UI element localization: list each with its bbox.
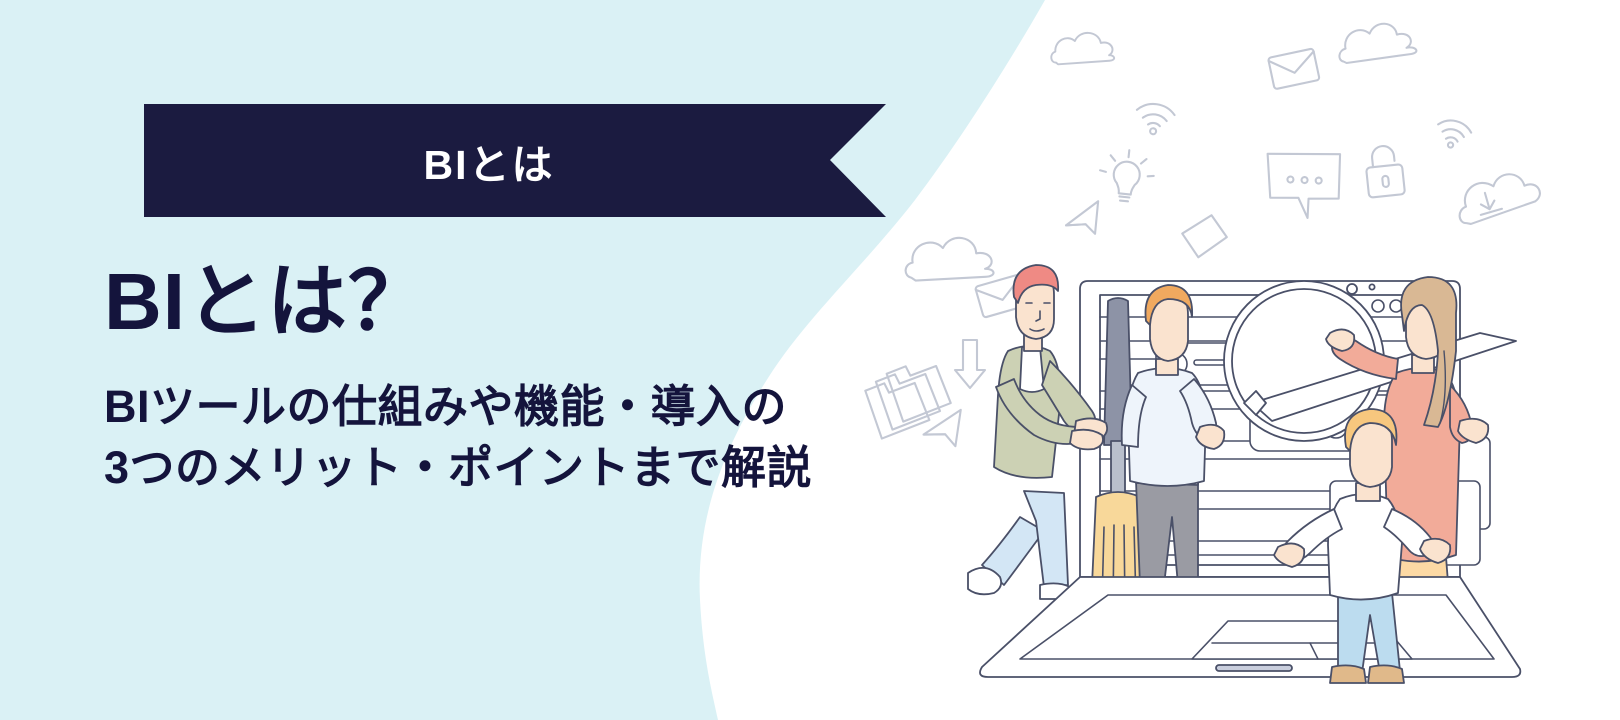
page-subtitle-line-2: 3つのメリット・ポイントまで解説 (104, 437, 1004, 498)
section-ribbon: BIとは (144, 104, 886, 217)
headline-block: BIとは？ BIツールの仕組みや機能・導入の 3つのメリット・ポイントまで解説 (104, 262, 1004, 498)
page-subtitle-line-1: BIツールの仕組みや機能・導入の (104, 376, 1004, 437)
team-working-on-laptop-illustration (960, 255, 1540, 685)
page-title: BIとは？ (104, 262, 1004, 342)
hero-banner: BIとは BIとは？ BIツールの仕組みや機能・導入の 3つのメリット・ポイント… (0, 0, 1620, 720)
ribbon-label: BIとは (144, 104, 834, 217)
